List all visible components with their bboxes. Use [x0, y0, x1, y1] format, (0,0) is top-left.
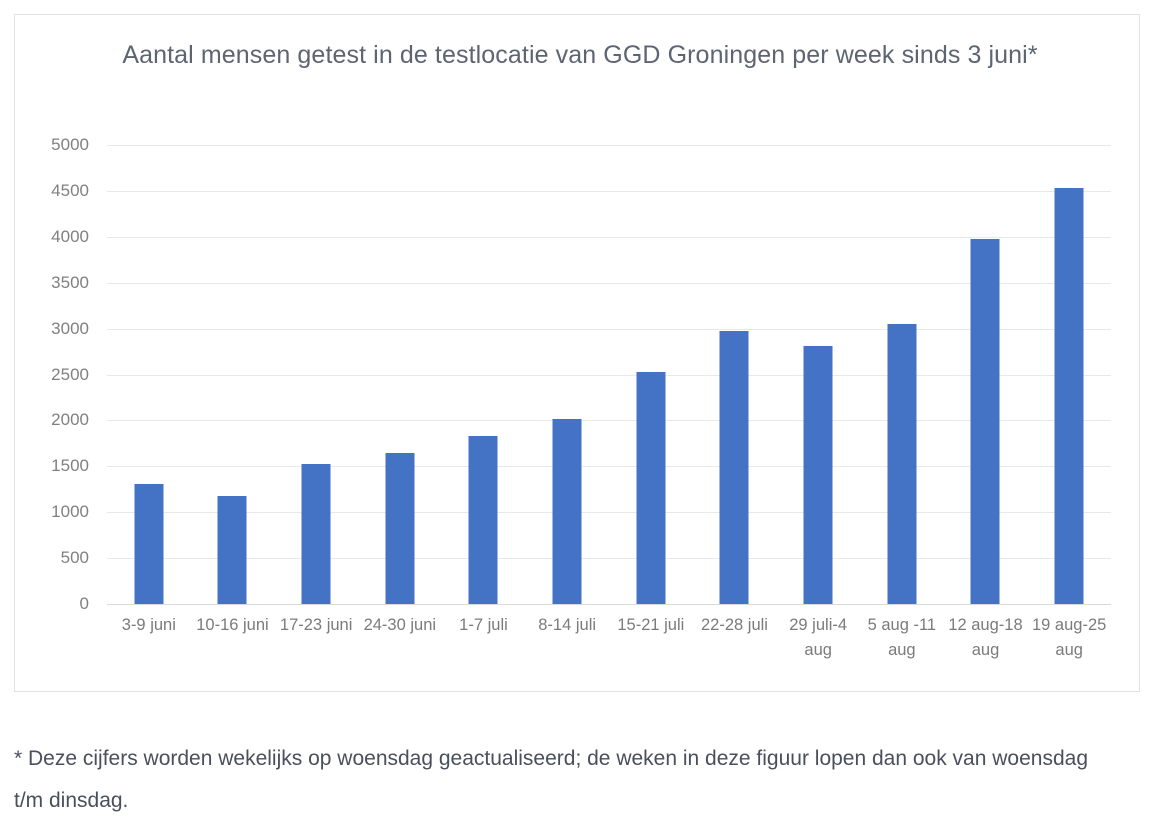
y-axis-tick-label: 5000	[9, 135, 89, 155]
y-axis-tick-label: 1000	[9, 502, 89, 522]
chart-title: Aantal mensen getest in de testlocatie v…	[75, 37, 1085, 73]
y-axis-tick-label: 3000	[9, 319, 89, 339]
bar[interactable]	[469, 436, 498, 604]
bar-slot	[525, 145, 609, 604]
x-axis-tick-label: 22-28 juli	[693, 613, 777, 638]
bar-slot	[358, 145, 442, 604]
y-axis-tick-label: 0	[9, 594, 89, 614]
gridline	[107, 604, 1111, 605]
bar-slot	[1027, 145, 1111, 604]
y-axis-tick-label: 500	[9, 548, 89, 568]
bar-slot	[274, 145, 358, 604]
bar[interactable]	[385, 453, 414, 604]
x-axis-tick-label: 8-14 juli	[525, 613, 609, 638]
x-axis-tick-label: 17-23 juni	[274, 613, 358, 638]
bar[interactable]	[1055, 188, 1084, 604]
bar[interactable]	[553, 419, 582, 604]
y-axis-tick-label: 2000	[9, 410, 89, 430]
x-axis-tick-label: 15-21 juli	[609, 613, 693, 638]
bar[interactable]	[636, 372, 665, 604]
bar[interactable]	[218, 496, 247, 604]
y-axis-tick-label: 1500	[9, 456, 89, 476]
x-axis-tick-label: 5 aug -11 aug	[860, 613, 944, 663]
bar[interactable]	[134, 484, 163, 604]
bar[interactable]	[887, 324, 916, 604]
bar-slot	[191, 145, 275, 604]
y-axis-tick-label: 3500	[9, 273, 89, 293]
bars-layer	[107, 145, 1111, 604]
y-axis-tick-label: 4000	[9, 227, 89, 247]
bar-slot	[609, 145, 693, 604]
bar[interactable]	[302, 464, 331, 604]
bar-slot	[107, 145, 191, 604]
x-axis-tick-label: 3-9 juni	[107, 613, 191, 638]
chart-card: Aantal mensen getest in de testlocatie v…	[14, 14, 1140, 692]
x-axis-tick-labels: 3-9 juni10-16 juni17-23 juni24-30 juni1-…	[107, 613, 1111, 683]
x-axis-tick-label: 12 aug-18 aug	[944, 613, 1028, 663]
x-axis-tick-label: 10-16 juni	[191, 613, 275, 638]
bar-slot	[944, 145, 1028, 604]
bar-slot	[442, 145, 526, 604]
bar[interactable]	[971, 239, 1000, 604]
x-axis-tick-label: 19 aug-25 aug	[1027, 613, 1111, 663]
y-axis-tick-label: 2500	[9, 365, 89, 385]
y-axis-tick-label: 4500	[9, 181, 89, 201]
bar-slot	[693, 145, 777, 604]
x-axis-tick-label: 24-30 juni	[358, 613, 442, 638]
plot-area: 5000450040003500300025002000150010005000	[93, 145, 1111, 604]
bar[interactable]	[804, 346, 833, 604]
x-axis-tick-label: 1-7 juli	[442, 613, 526, 638]
footnote: * Deze cijfers worden wekelijks op woens…	[14, 738, 1104, 822]
x-axis-tick-label: 29 juli-4 aug	[776, 613, 860, 663]
bar-slot	[776, 145, 860, 604]
bar-slot	[860, 145, 944, 604]
bar[interactable]	[720, 331, 749, 604]
